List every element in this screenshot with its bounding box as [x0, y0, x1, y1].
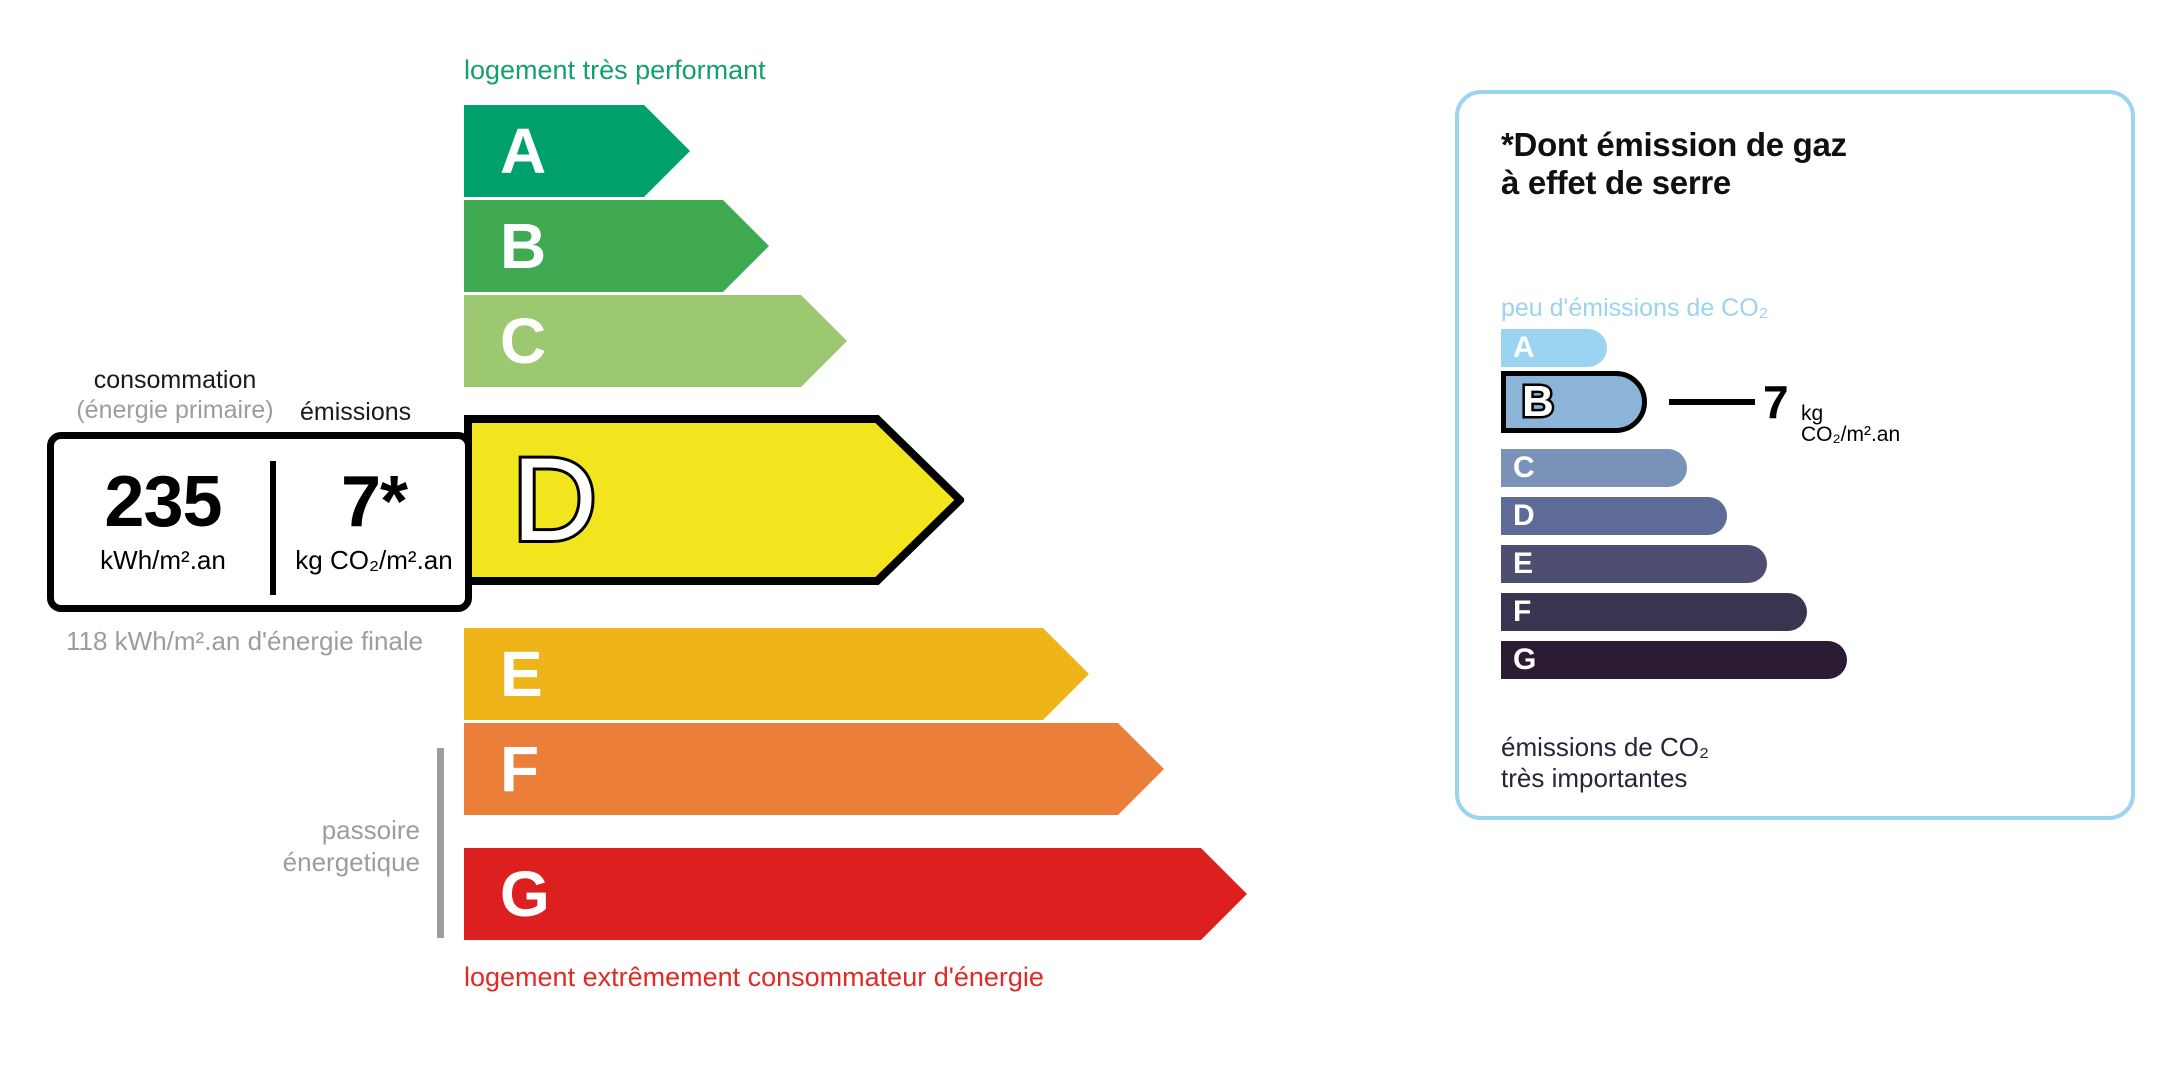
energy-bar-a-shape	[464, 105, 690, 197]
energy-bar-a[interactable]: A	[464, 105, 690, 197]
final-energy-note: 118 kWh/m².an d'énergie finale	[66, 626, 423, 658]
co2-bar-d-letter: D	[1513, 501, 1535, 531]
co2-bar-f[interactable]: F	[1501, 593, 1807, 631]
co2-bar-a-letter: A	[1513, 333, 1535, 363]
energy-bar-e-shape	[464, 628, 1089, 720]
emissions-unit: kg CO₂/m².an	[276, 545, 472, 576]
consumption-value-cell: 235 kWh/m².an	[58, 459, 268, 576]
co2-value-unit: kg CO₂/m².an	[1801, 403, 1900, 445]
energy-bar-g-letter: G	[500, 862, 550, 926]
consumption-unit: kWh/m².an	[58, 545, 268, 576]
co2-bar-e[interactable]: E	[1501, 545, 1767, 583]
co2-emissions-panel: *Dont émission de gaz à effet de serre p…	[1455, 90, 2135, 820]
energy-bar-e-letter: E	[500, 642, 543, 706]
energy-value-box: 235 kWh/m².an 7* kg CO₂/m².an	[47, 432, 472, 612]
co2-top-caption: peu d'émissions de CO₂	[1501, 294, 1768, 323]
energy-bar-f-letter: F	[500, 737, 539, 801]
energy-bar-c[interactable]: C	[464, 295, 847, 387]
energy-bar-g-shape	[464, 848, 1247, 940]
consumption-value: 235	[58, 459, 268, 547]
co2-bar-d[interactable]: D	[1501, 497, 1727, 535]
co2-panel-title: *Dont émission de gaz à effet de serre	[1501, 126, 1847, 203]
energy-bar-e[interactable]: E	[464, 628, 1089, 720]
consumption-header-line2: (énergie primaire)	[55, 396, 295, 426]
emissions-value-cell: 7* kg CO₂/m².an	[276, 459, 472, 576]
passoire-bracket	[437, 748, 444, 938]
passoire-label: passoire énergetique	[200, 815, 420, 878]
co2-bar-b-selected[interactable]: B	[1501, 371, 1647, 433]
co2-bar-b-letter: B	[1522, 380, 1554, 424]
consumption-header: consommation (énergie primaire)	[55, 366, 295, 425]
co2-bar-g[interactable]: G	[1501, 641, 1847, 679]
co2-bar-f-letter: F	[1513, 597, 1531, 627]
energy-bar-d-selected[interactable]: D	[464, 415, 964, 585]
co2-bar-a[interactable]: A	[1501, 329, 1607, 367]
co2-bar-g-letter: G	[1513, 645, 1536, 675]
co2-bar-c-letter: C	[1513, 453, 1535, 483]
energy-bar-b-letter: B	[500, 214, 546, 278]
energy-bar-d-letter: D	[512, 441, 597, 559]
energy-bar-b[interactable]: B	[464, 200, 769, 292]
energy-bottom-caption: logement extrêmement consommateur d'éner…	[464, 962, 1044, 993]
energy-performance-chart: logement très performant A B C D E	[0, 0, 1400, 1079]
co2-leader-line	[1669, 399, 1755, 405]
co2-bottom-caption: émissions de CO₂ très importantes	[1501, 732, 1709, 794]
consumption-header-line1: consommation	[94, 366, 257, 394]
emissions-header: émissions	[300, 398, 411, 427]
energy-bar-a-letter: A	[500, 119, 546, 183]
energy-bar-c-letter: C	[500, 309, 546, 373]
co2-bar-e-letter: E	[1513, 549, 1533, 579]
energy-bar-f-shape	[464, 723, 1164, 815]
co2-bar-c[interactable]: C	[1501, 449, 1687, 487]
energy-bar-f[interactable]: F	[464, 723, 1164, 815]
emissions-value: 7*	[276, 459, 472, 547]
co2-value: 7	[1763, 379, 1789, 425]
energy-bar-g[interactable]: G	[464, 848, 1247, 940]
